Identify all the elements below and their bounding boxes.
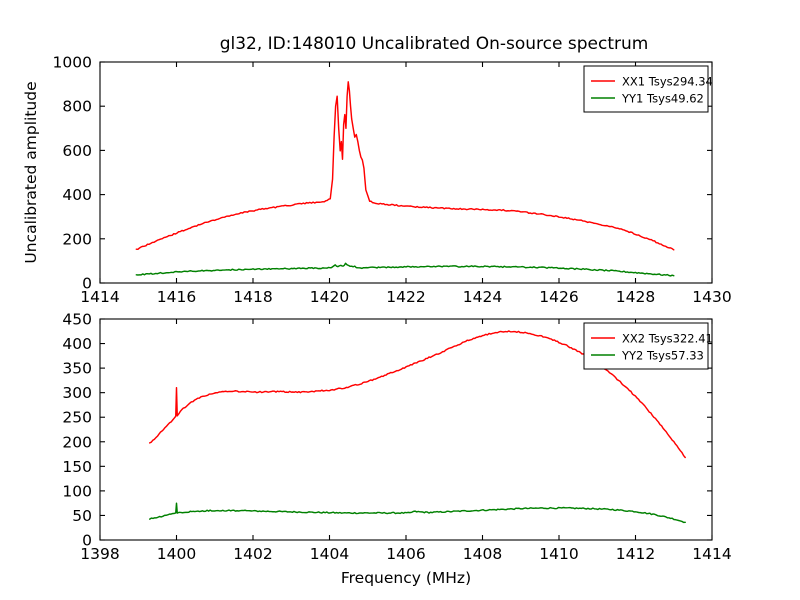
x-tick-label: 1410 [539, 545, 578, 563]
x-tick-label: 1422 [386, 288, 425, 306]
legend-label: YY2 Tsys57.33 [621, 349, 704, 363]
legend: XX2 Tsys322.41YY2 Tsys57.33 [584, 323, 713, 369]
x-tick-label: 1428 [616, 288, 655, 306]
y-tick-label: 150 [62, 458, 92, 476]
y-tick-label: 450 [62, 311, 92, 329]
x-tick-label: 1430 [692, 288, 731, 306]
x-tick-label: 1402 [233, 545, 272, 563]
y-tick-label: 350 [62, 360, 92, 378]
legend-label: XX1 Tsys294.34 [622, 75, 713, 89]
y-tick-label: 50 [72, 507, 92, 525]
x-tick-label: 1406 [386, 545, 425, 563]
y-tick-label: 0 [82, 275, 92, 293]
spectrum-figure: gl32, ID:148010 Uncalibrated On-source s… [0, 0, 800, 600]
x-tick-label: 1414 [692, 545, 731, 563]
y-tick-label: 400 [62, 335, 92, 353]
legend-label: XX2 Tsys322.41 [622, 332, 713, 346]
y-tick-label: 1000 [53, 54, 92, 72]
page-title: gl32, ID:148010 Uncalibrated On-source s… [220, 34, 649, 54]
y-tick-label: 800 [62, 98, 92, 116]
x-tick-label: 1424 [463, 288, 502, 306]
y-tick-label: 600 [62, 142, 92, 160]
y-tick-label: 400 [62, 186, 92, 204]
y-tick-label: 100 [62, 482, 92, 500]
x-tick-label: 1408 [463, 545, 502, 563]
legend: XX1 Tsys294.34YY1 Tsys49.62 [584, 66, 713, 112]
y-tick-label: 200 [62, 433, 92, 451]
x-tick-label: 1426 [539, 288, 578, 306]
plot-canvas: gl32, ID:148010 Uncalibrated On-source s… [0, 0, 800, 600]
x-tick-label: 1416 [157, 288, 196, 306]
x-tick-label: 1420 [310, 288, 349, 306]
x-axis-label: Frequency (MHz) [341, 569, 471, 587]
legend-label: YY1 Tsys49.62 [621, 92, 704, 106]
y-tick-label: 300 [62, 384, 92, 402]
y-tick-label: 200 [62, 230, 92, 248]
y-tick-label: 0 [82, 532, 92, 550]
x-tick-label: 1418 [233, 288, 272, 306]
x-tick-label: 1400 [157, 545, 196, 563]
x-tick-label: 1404 [310, 545, 349, 563]
y-axis-label: Uncalibrated amplitude [22, 81, 40, 263]
y-tick-label: 250 [62, 409, 92, 427]
x-tick-label: 1412 [616, 545, 655, 563]
